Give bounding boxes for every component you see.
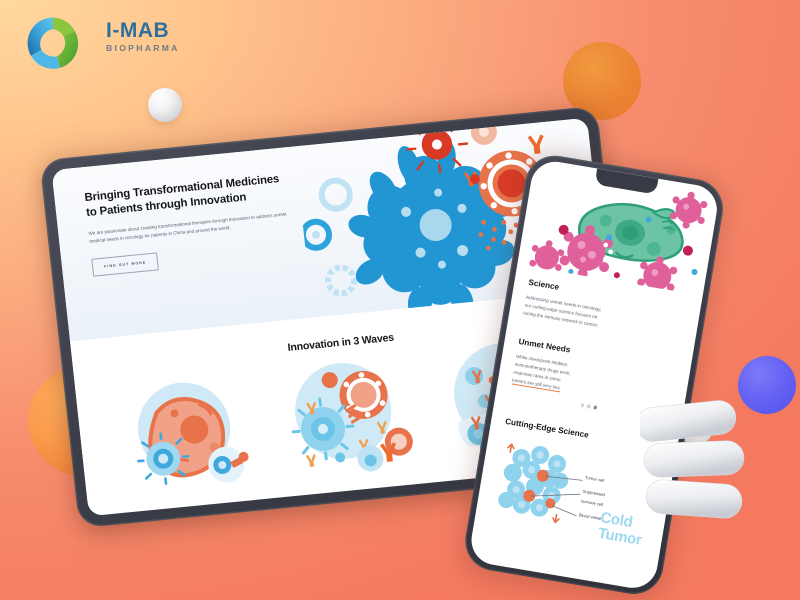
logo-mark-icon bbox=[22, 14, 84, 72]
logo-main-text: I-MAB bbox=[106, 20, 180, 41]
i-mab-biopharma-logo: I-MAB BIOPHARMA bbox=[22, 14, 202, 66]
cold-tumor-diagram: Tumor cell Suppressed immune cell Blood … bbox=[487, 432, 661, 557]
white-sphere-top bbox=[148, 88, 182, 122]
carousel-dot-2[interactable] bbox=[587, 404, 591, 408]
carousel-dot-3[interactable] bbox=[593, 405, 597, 409]
carousel-dot-1[interactable] bbox=[581, 403, 585, 407]
hero-copy-block: Bringing Transformational Medicines to P… bbox=[84, 168, 330, 277]
white-3d-hand bbox=[640, 398, 800, 588]
finger-2 bbox=[643, 440, 744, 477]
finger-1 bbox=[640, 399, 738, 443]
cold-tumor-overlay-text: Cold Tumor bbox=[597, 510, 646, 548]
logo-wordmark: I-MAB BIOPHARMA bbox=[106, 20, 180, 53]
find-out-more-button[interactable]: FIND OUT MORE bbox=[91, 252, 159, 276]
wave-2-svg bbox=[267, 347, 429, 481]
wave-1-svg bbox=[108, 363, 270, 497]
wave-1-illustration bbox=[108, 363, 270, 497]
logo-sub-text: BIOPHARMA bbox=[106, 44, 180, 53]
wave-2-illustration bbox=[267, 347, 429, 481]
finger-3 bbox=[645, 479, 743, 520]
poster-canvas: I-MAB BIOPHARMA bbox=[0, 0, 800, 600]
